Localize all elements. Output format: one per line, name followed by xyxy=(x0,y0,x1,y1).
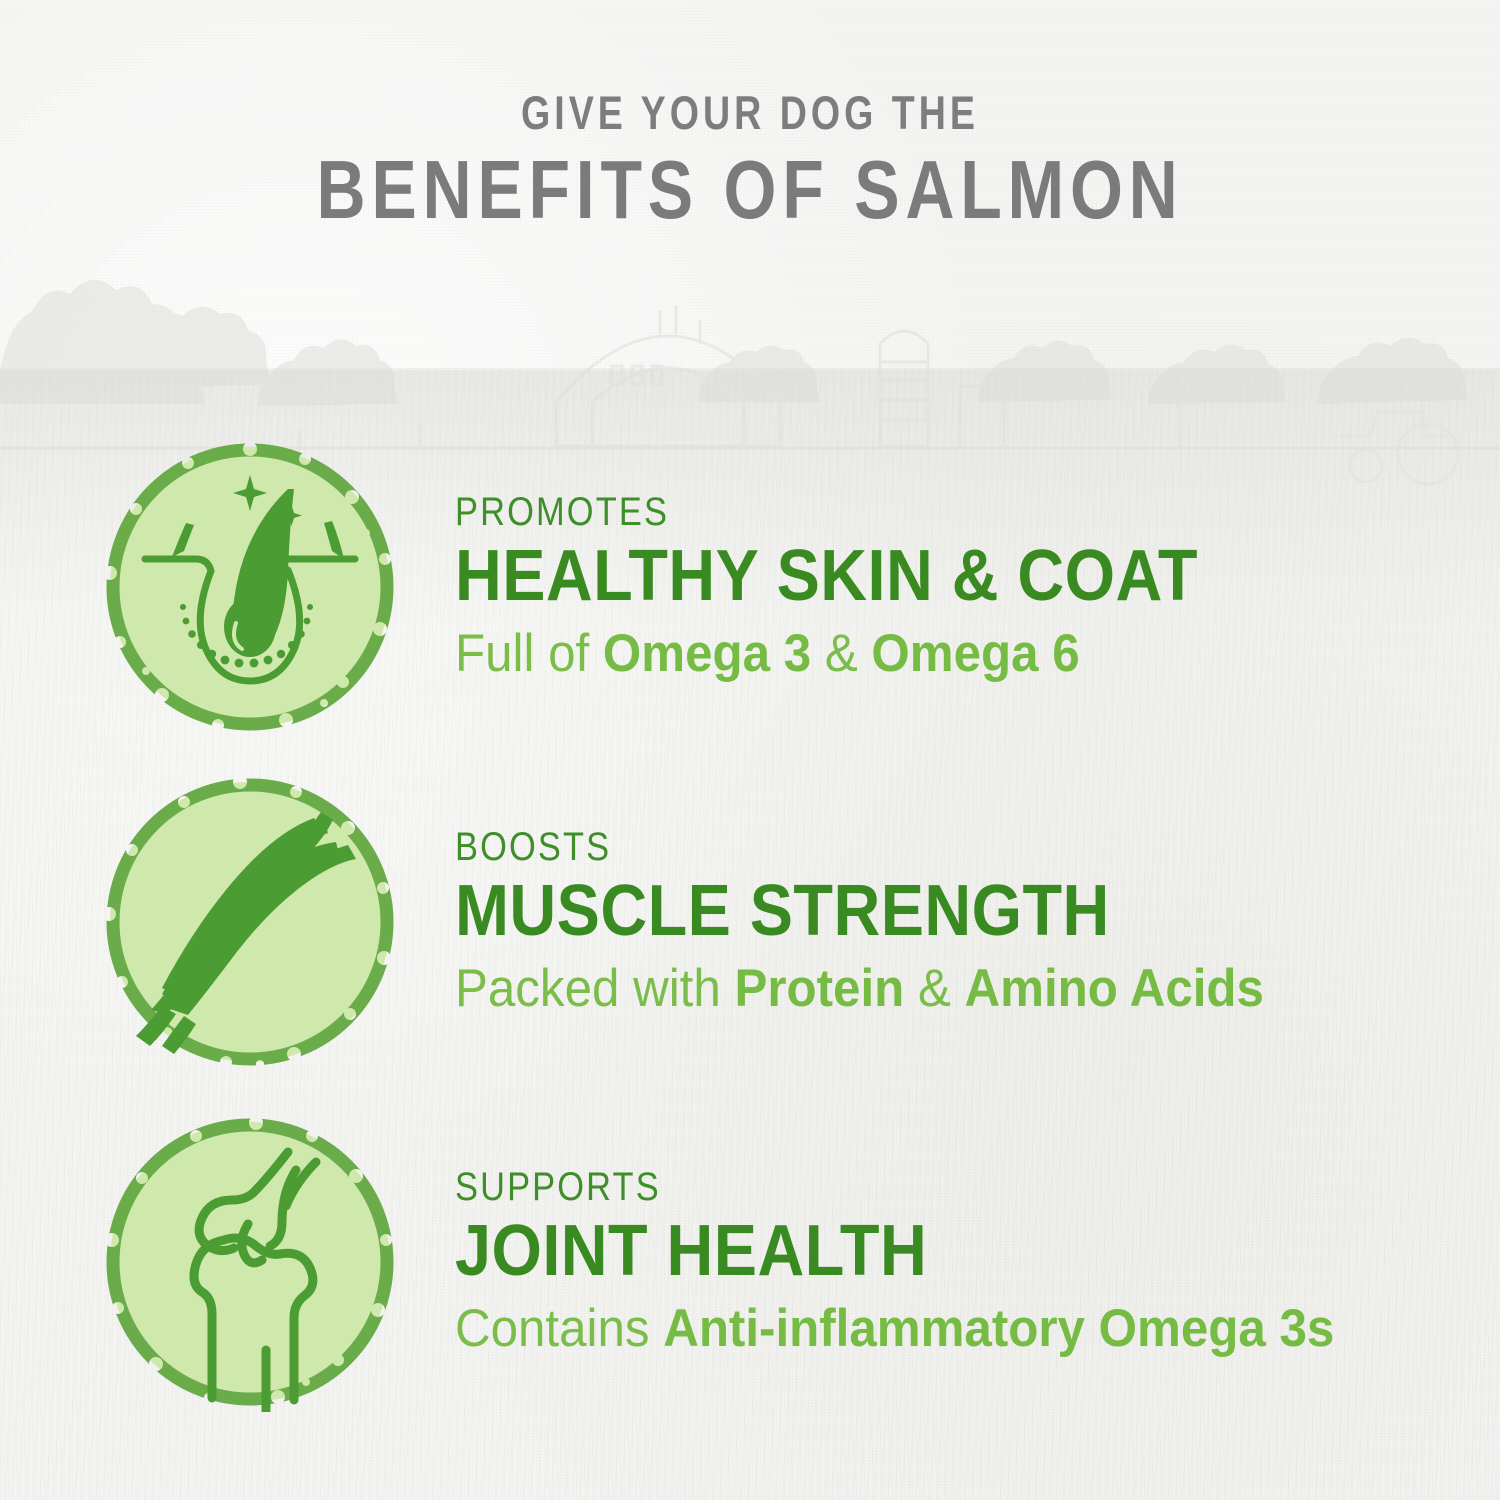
infographic-canvas: GIVE YOUR DOG THE BENEFITS OF SALMON xyxy=(0,0,1500,1500)
benefit-row-muscle-strength: BOOSTS MUSCLE STRENGTH Packed with Prote… xyxy=(0,772,1500,1072)
subline-text: & xyxy=(904,959,964,1018)
subline-emphasis: Anti-inflammatory Omega 3s xyxy=(663,1299,1334,1358)
horizon-line xyxy=(0,368,1500,370)
subline-emphasis: Protein xyxy=(734,959,904,1018)
subline-emphasis: Omega 6 xyxy=(871,624,1079,683)
benefit-text-muscle-strength: BOOSTS MUSCLE STRENGTH Packed with Prote… xyxy=(455,827,1500,1017)
hair-follicle-icon xyxy=(100,437,400,737)
benefit-eyebrow: PROMOTES xyxy=(455,492,1354,532)
subline-emphasis: Amino Acids xyxy=(965,959,1264,1018)
benefit-headline: MUSCLE STRENGTH xyxy=(455,873,1396,949)
benefit-text-skin-coat: PROMOTES HEALTHY SKIN & COAT Full of Ome… xyxy=(455,492,1500,682)
benefit-subline: Packed with Protein & Amino Acids xyxy=(455,960,1427,1017)
benefit-text-joint-health: SUPPORTS JOINT HEALTH Contains Anti-infl… xyxy=(455,1167,1500,1357)
benefit-row-skin-coat: PROMOTES HEALTHY SKIN & COAT Full of Ome… xyxy=(0,437,1500,737)
subline-text: Packed with xyxy=(455,959,734,1018)
benefit-subline: Full of Omega 3 & Omega 6 xyxy=(455,625,1427,682)
muscle-fiber-icon xyxy=(100,772,400,1072)
benefit-headline: HEALTHY SKIN & COAT xyxy=(455,538,1396,614)
subline-emphasis: Omega 3 xyxy=(603,624,811,683)
subline-text: & xyxy=(811,624,871,683)
subline-text: Full of xyxy=(455,624,603,683)
knee-joint-icon xyxy=(100,1112,400,1412)
benefit-headline: JOINT HEALTH xyxy=(455,1213,1396,1289)
benefit-eyebrow: BOOSTS xyxy=(455,827,1354,867)
benefit-subline: Contains Anti-inflammatory Omega 3s xyxy=(455,1300,1427,1357)
subline-text: Contains xyxy=(455,1299,663,1358)
benefit-eyebrow: SUPPORTS xyxy=(455,1167,1354,1207)
benefit-row-joint-health: SUPPORTS JOINT HEALTH Contains Anti-infl… xyxy=(0,1112,1500,1412)
header-line-1: GIVE YOUR DOG THE xyxy=(150,88,1350,137)
header-line-2: BENEFITS OF SALMON xyxy=(135,145,1365,235)
header: GIVE YOUR DOG THE BENEFITS OF SALMON xyxy=(0,88,1500,235)
